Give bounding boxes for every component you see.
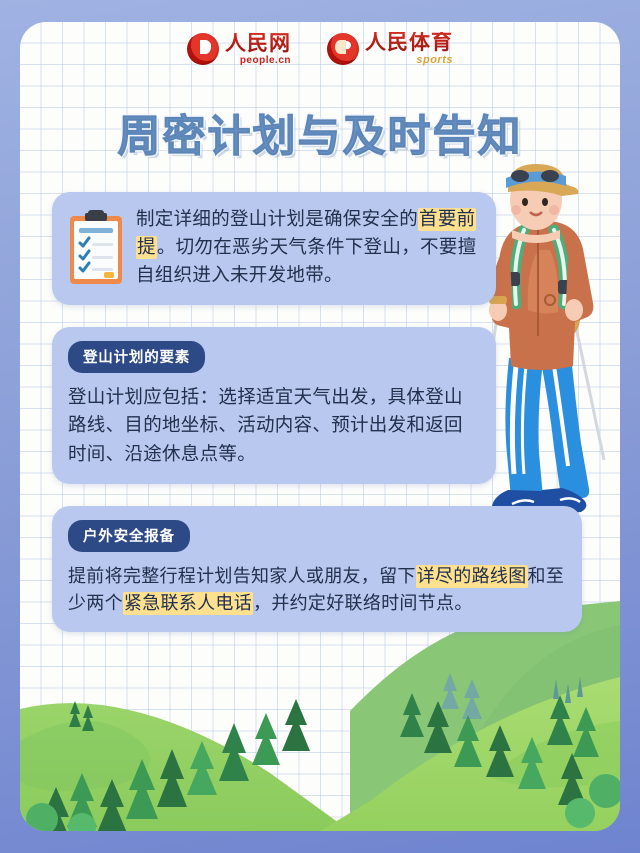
people-sports-wordmark: 人民体育 sports [365, 32, 453, 66]
people-sports-chinese: 人民体育 [365, 32, 453, 53]
block-3-text: 提前将完整行程计划告知家人或朋友，留下详尽的路线图和至少两个紧急联系人电话，并约… [68, 563, 566, 618]
people-cn-sub: people.cn [225, 56, 291, 66]
poster-card: 人民网 people.cn 人民体育 sports 周密计划与及时告知 [20, 22, 620, 831]
block-safety-report: 户外安全报备 提前将完整行程计划告知家人或朋友，留下详尽的路线图和至少两个紧急联… [52, 506, 582, 633]
body-text: 提前将完整行程计划告知家人或朋友，留下 [68, 566, 416, 587]
highlighted-text: 紧急联系人电话 [123, 592, 253, 615]
body-text: 。切勿在恶劣天气条件下登山，不要擅自组织进入未开发地带。 [136, 237, 476, 286]
logo-people-cn: 人民网 people.cn [187, 33, 291, 66]
block-1-text: 制定详细的登山计划是确保安全的首要前提。切勿在恶劣天气条件下登山，不要擅自组织进… [136, 206, 480, 290]
people-cn-logo-icon [187, 33, 219, 65]
block-plan-intro: 制定详细的登山计划是确保安全的首要前提。切勿在恶劣天气条件下登山，不要擅自组织进… [52, 192, 496, 305]
people-cn-chinese: 人民网 [225, 33, 291, 54]
people-cn-wordmark: 人民网 people.cn [225, 33, 291, 66]
body-text: 制定详细的登山计划是确保安全的 [136, 209, 418, 230]
people-sports-logo-icon [327, 33, 359, 65]
page-title: 周密计划与及时告知 [20, 102, 620, 164]
highlighted-text: 详尽的路线图 [416, 565, 528, 588]
clipboard-checklist-icon [68, 210, 124, 286]
body-text: ，并约定好联络时间节点。 [253, 593, 473, 614]
body-text: 登山计划应包括：选择适宜天气出发，具体登山路线、目的地坐标、活动内容、预计出发和… [68, 387, 463, 464]
poster-frame: 人民网 people.cn 人民体育 sports 周密计划与及时告知 [0, 0, 640, 853]
logo-bar: 人民网 people.cn 人民体育 sports [20, 32, 620, 66]
content-blocks: 制定详细的登山计划是确保安全的首要前提。切勿在恶劣天气条件下登山，不要擅自组织进… [52, 192, 582, 654]
badge-safety-report: 户外安全报备 [68, 520, 190, 552]
badge-plan-elements: 登山计划的要素 [68, 341, 205, 373]
block-2-text: 登山计划应包括：选择适宜天气出发，具体登山路线、目的地坐标、活动内容、预计出发和… [68, 384, 480, 468]
logo-people-sports: 人民体育 sports [327, 32, 453, 66]
people-sports-sub: sports [365, 55, 453, 66]
block-plan-elements: 登山计划的要素 登山计划应包括：选择适宜天气出发，具体登山路线、目的地坐标、活动… [52, 327, 496, 483]
